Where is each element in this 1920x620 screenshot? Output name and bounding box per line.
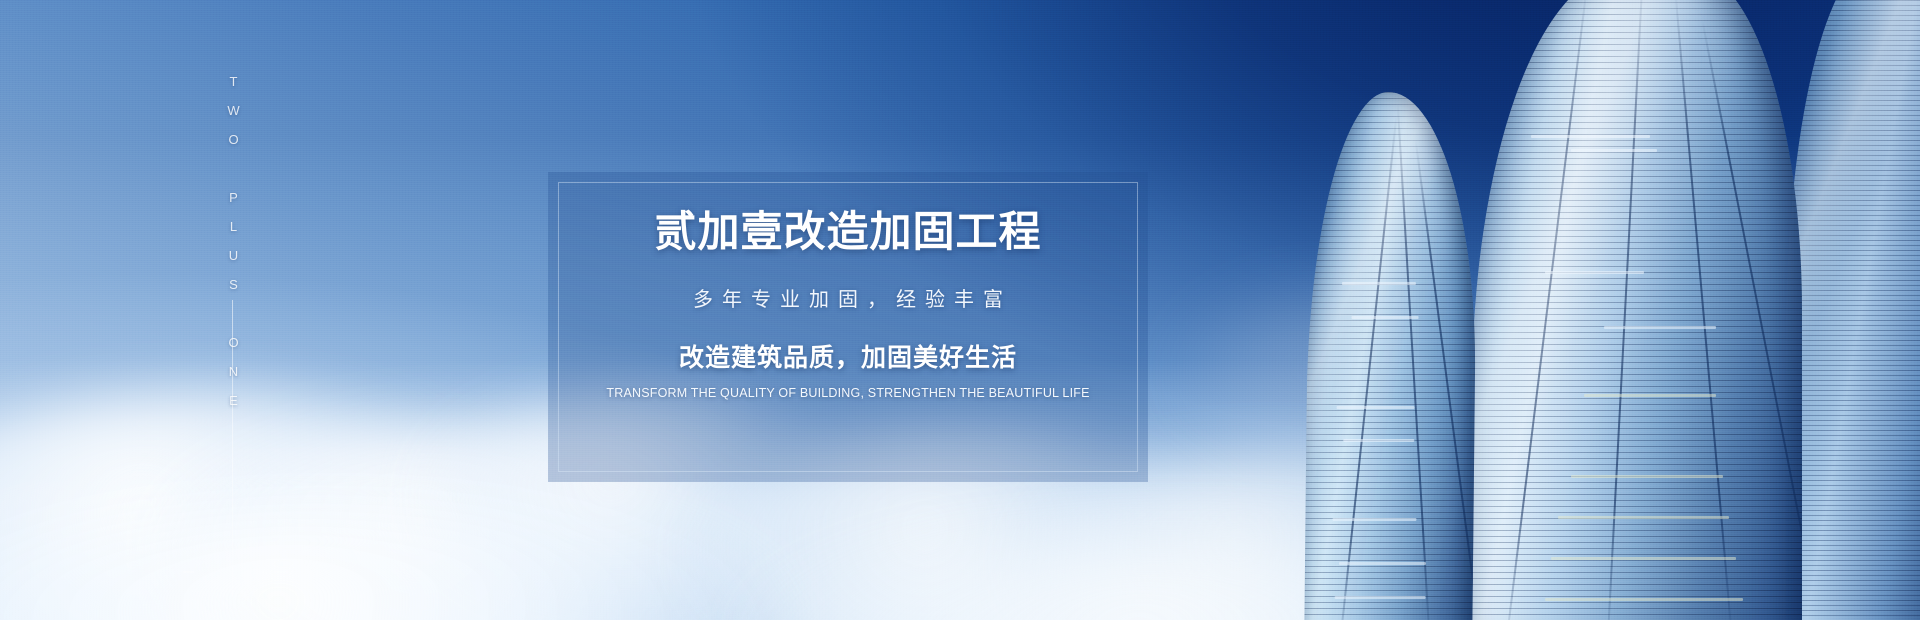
- vertical-wordmark: TWO PLUS ONE: [226, 74, 241, 422]
- lit-window-band: [1571, 475, 1723, 478]
- lit-window-band: [1531, 135, 1650, 138]
- lit-window-band: [1571, 149, 1657, 152]
- lit-window-band: [1335, 596, 1426, 599]
- hero-english-caption: TRANSFORM THE QUALITY OF BUILDING, STREN…: [548, 386, 1148, 400]
- lit-window-band: [1342, 282, 1416, 285]
- lit-window-band: [1584, 394, 1716, 397]
- lit-window-band: [1343, 439, 1414, 442]
- skyscraper-far-right: [1786, 0, 1920, 620]
- lit-window-band: [1545, 598, 1743, 601]
- lit-window-band: [1339, 562, 1426, 565]
- skyscraper-back-tower: [1472, 0, 1802, 620]
- hero-slogan: 改造建筑品质，加固美好生活: [548, 338, 1148, 374]
- lit-window-band: [1351, 316, 1418, 319]
- hero-text-panel: 贰加壹改造加固工程 多年专业加固，经验丰富 改造建筑品质，加固美好生活 TRAN…: [548, 172, 1148, 482]
- hero-tagline: 多年专业加固，经验丰富: [548, 283, 1148, 312]
- lit-window-band: [1337, 406, 1414, 409]
- vertical-foot-mark: 一: [180, 566, 197, 580]
- lit-window-band: [1545, 271, 1644, 274]
- lit-window-band: [1551, 557, 1736, 560]
- hero-banner: TWO PLUS ONE 一 贰加壹改造加固工程 多年专业加固，经验丰富 改造建…: [0, 0, 1920, 620]
- floor-striations: [1786, 0, 1920, 620]
- hero-title: 贰加壹改造加固工程: [548, 208, 1148, 255]
- lit-window-band: [1332, 518, 1416, 521]
- skyscraper-front-tower: [1304, 92, 1478, 620]
- lit-window-band: [1558, 516, 1730, 519]
- vertical-rule-divider: [232, 300, 233, 600]
- lit-window-band: [1604, 326, 1716, 329]
- panel-content: 贰加壹改造加固工程 多年专业加固，经验丰富 改造建筑品质，加固美好生活 TRAN…: [548, 208, 1148, 400]
